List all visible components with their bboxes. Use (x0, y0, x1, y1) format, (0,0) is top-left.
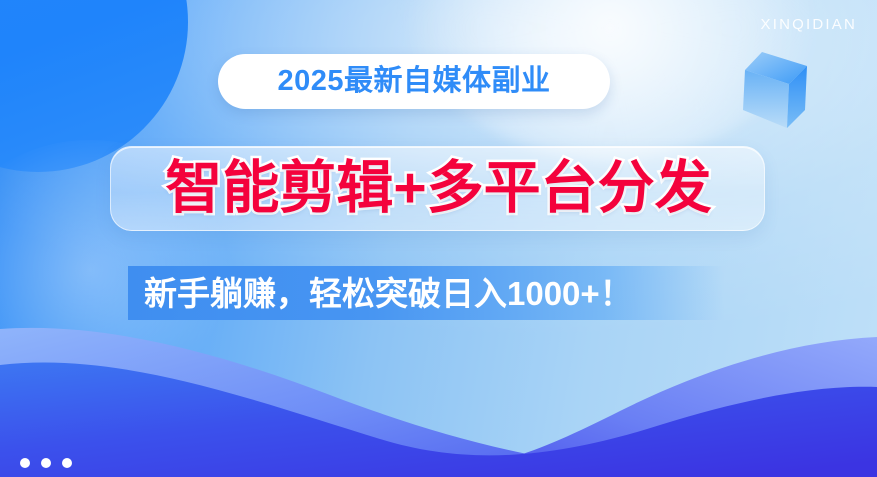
watermark-text: XINQIDIAN (761, 16, 857, 33)
headline-text: 智能剪辑+多平台分发 (165, 160, 711, 217)
dot-2[interactable] (41, 458, 51, 468)
promo-poster: XINQIDIAN 2025最新自媒体副业 智能剪辑+多平台分发 新手躺赚，轻松… (0, 0, 877, 477)
dot-3[interactable] (62, 458, 72, 468)
subline-container: 新手躺赚，轻松突破日入1000+！ (128, 266, 724, 320)
dot-1[interactable] (20, 458, 30, 468)
cube-3d-icon (735, 48, 817, 134)
subline-text: 新手躺赚，轻松突破日入1000+！ (144, 277, 633, 310)
headline-container: 智能剪辑+多平台分发 (0, 146, 877, 231)
wave-hills-graphic (0, 307, 877, 477)
pagination-dots (20, 458, 72, 468)
badge-pill: 2025最新自媒体副业 (218, 54, 610, 109)
badge-label: 2025最新自媒体副业 (277, 67, 550, 96)
